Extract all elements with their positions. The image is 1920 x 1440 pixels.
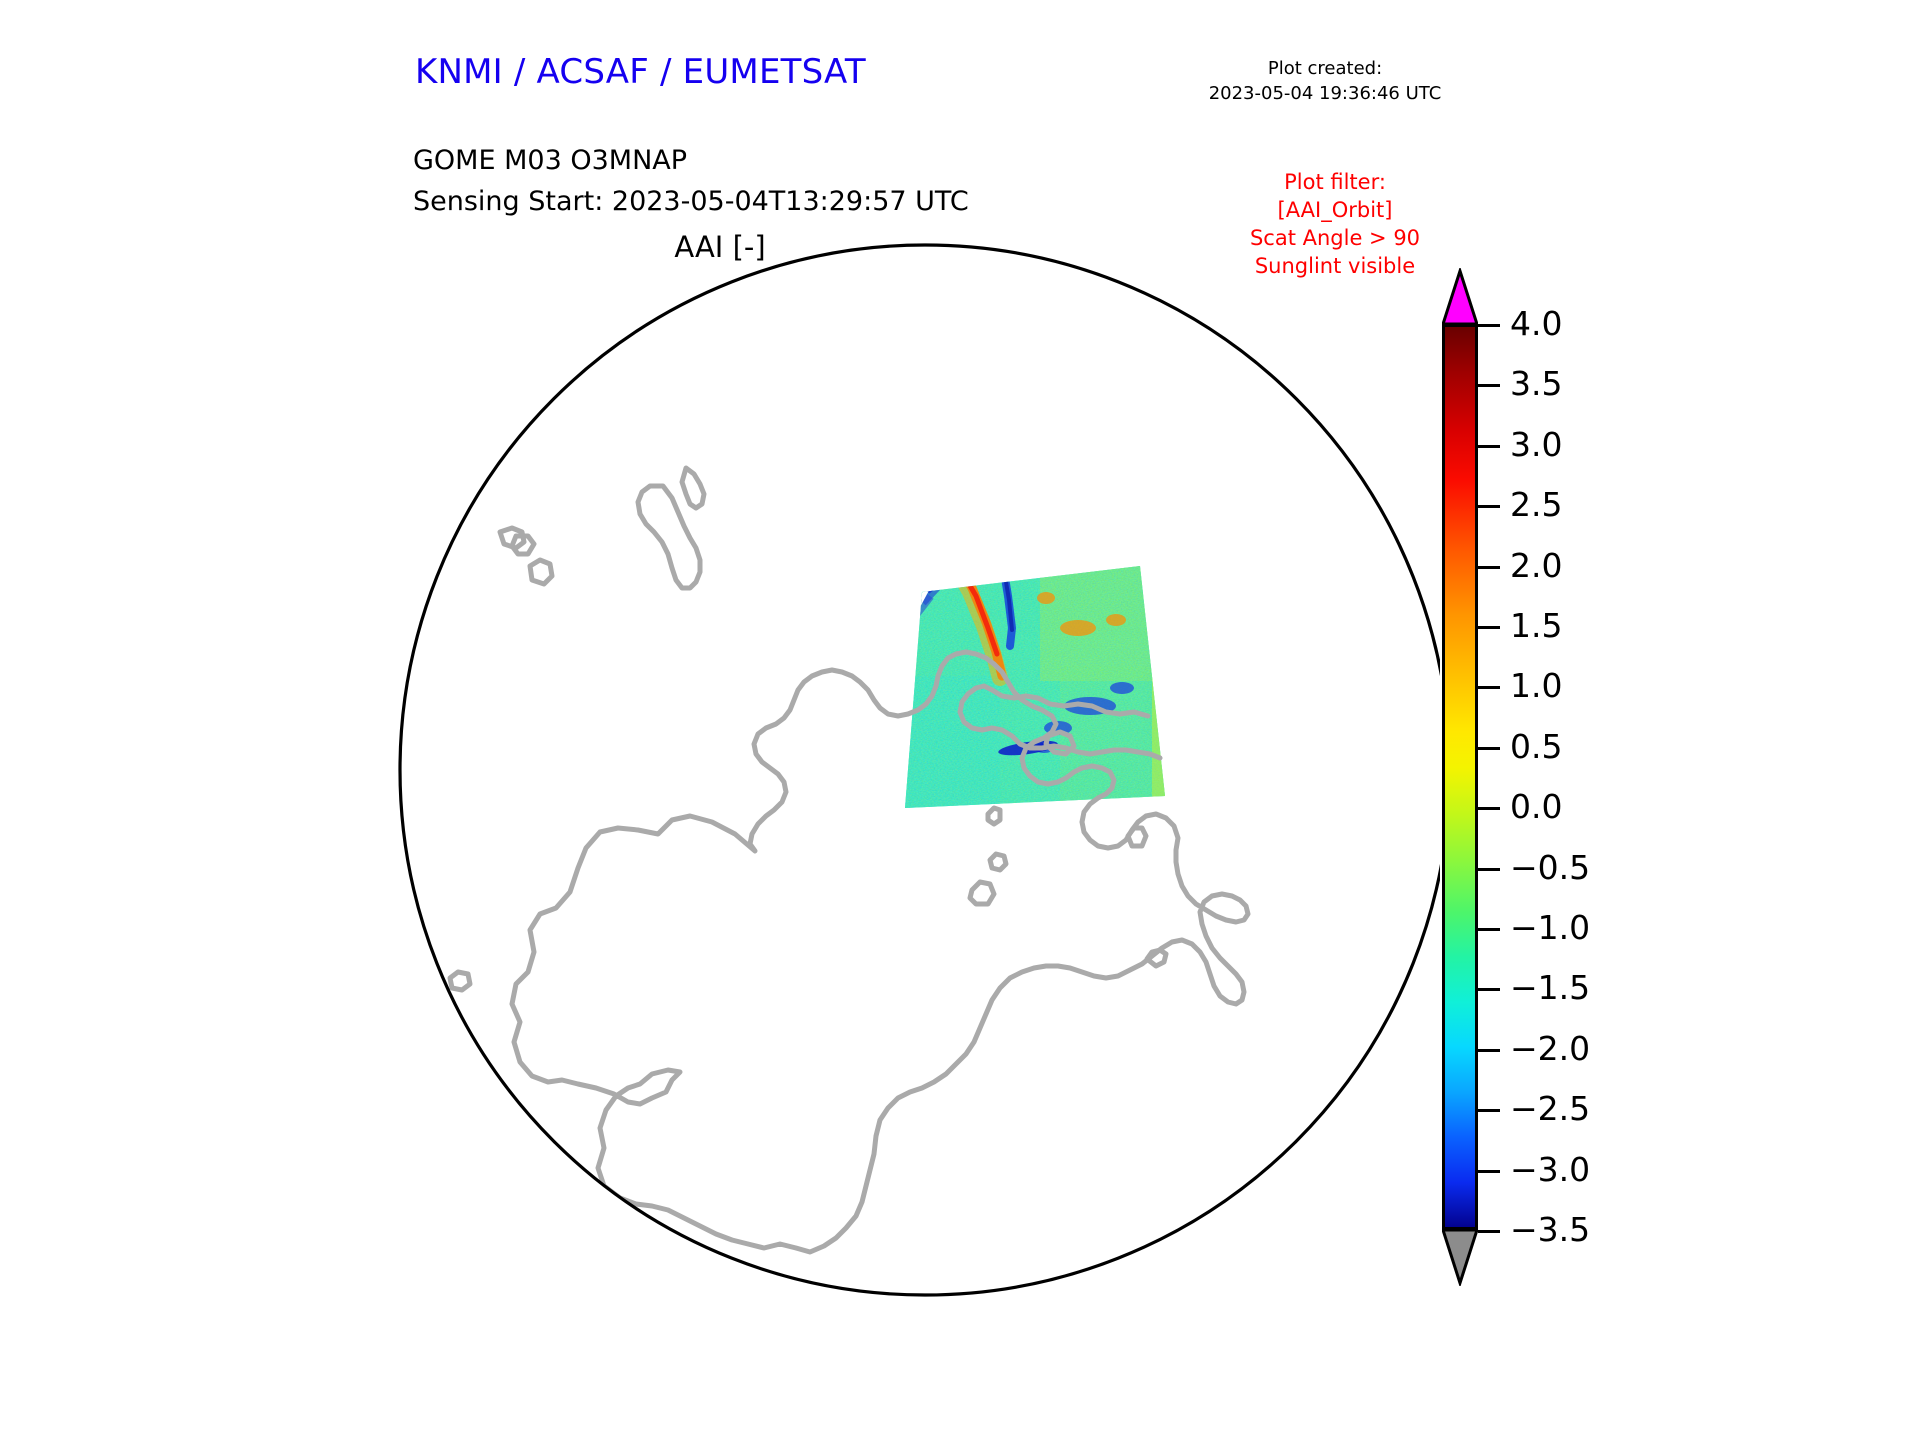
- colorbar-tick-label: −3.5: [1510, 1213, 1590, 1246]
- colorbar-tick: [1478, 1049, 1500, 1052]
- colorbar-tick: [1478, 505, 1500, 508]
- colorbar-tick-label: 1.0: [1510, 669, 1562, 702]
- colorbar-tick-label: 2.5: [1510, 488, 1562, 521]
- colorbar-tick: [1478, 868, 1500, 871]
- plot-canvas: KNMI / ACSAF / EUMETSAT Plot created: 20…: [0, 0, 1920, 1440]
- colorbar-under-arrow: [1442, 1228, 1478, 1286]
- colorbar-tick: [1478, 1109, 1500, 1112]
- metadata-block: GOME M03 O3MNAP Sensing Start: 2023-05-0…: [413, 140, 969, 222]
- colorbar-tick-label: 0.5: [1510, 730, 1562, 763]
- plot-filter-title: Plot filter:: [1185, 168, 1485, 196]
- colorbar-tick: [1478, 1230, 1500, 1233]
- colorbar-tick-label: −0.5: [1510, 851, 1590, 884]
- colorbar-ticks: 4.0 3.5 3.0 2.5 2.0 1.5 1.0 0.5 0.0 −0.5…: [1442, 324, 1682, 1230]
- colorbar-tick-label: −2.5: [1510, 1092, 1590, 1125]
- colorbar-tick: [1478, 686, 1500, 689]
- colorbar-tick: [1478, 928, 1500, 931]
- colorbar-tick-label: 4.0: [1510, 307, 1562, 340]
- map-area: [0, 236, 1440, 1372]
- colorbar-tick-label: 2.0: [1510, 549, 1562, 582]
- colorbar-tick: [1478, 626, 1500, 629]
- colorbar-tick-label: −1.5: [1510, 971, 1590, 1004]
- colorbar-tick-label: −3.0: [1510, 1153, 1590, 1186]
- organisation-title: KNMI / ACSAF / EUMETSAT: [415, 52, 866, 92]
- colorbar-tick-label: 0.0: [1510, 790, 1562, 823]
- colorbar-tick: [1478, 807, 1500, 810]
- sensing-start-line: Sensing Start: 2023-05-04T13:29:57 UTC: [413, 181, 969, 222]
- map-svg: [0, 236, 1440, 1372]
- data-swath: [880, 551, 1190, 826]
- colorbar-over-arrow: [1442, 268, 1478, 326]
- colorbar-tick: [1478, 384, 1500, 387]
- plot-created-block: Plot created: 2023-05-04 19:36:46 UTC: [1160, 56, 1490, 106]
- colorbar-tick-label: −1.0: [1510, 911, 1590, 944]
- plot-created-label: Plot created:: [1160, 56, 1490, 81]
- colorbar-tick-label: 3.0: [1510, 428, 1562, 461]
- colorbar-tick: [1478, 566, 1500, 569]
- colorbar-tick: [1478, 1170, 1500, 1173]
- colorbar-tick: [1478, 988, 1500, 991]
- colorbar-tick-label: 3.5: [1510, 367, 1562, 400]
- colorbar-tick: [1478, 445, 1500, 448]
- colorbar-tick-label: 1.5: [1510, 609, 1562, 642]
- colorbar-tick-label: −2.0: [1510, 1032, 1590, 1065]
- colorbar-tick: [1478, 324, 1500, 327]
- instrument-line: GOME M03 O3MNAP: [413, 140, 969, 181]
- plot-created-value: 2023-05-04 19:36:46 UTC: [1160, 81, 1490, 106]
- colorbar-tick: [1478, 747, 1500, 750]
- plot-filter-line-1: [AAI_Orbit]: [1185, 196, 1485, 224]
